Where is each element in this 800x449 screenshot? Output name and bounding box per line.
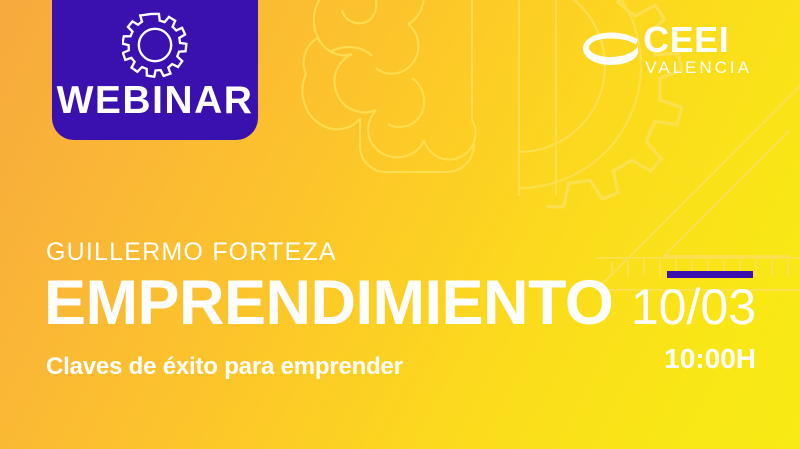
set-square-icon — [596, 64, 800, 290]
webinar-poster: WEBINAR CEEI VALENCIA GUILLERMO FORTEZA … — [0, 0, 800, 449]
event-date: 10/03 — [631, 282, 756, 332]
webinar-badge: WEBINAR — [52, 0, 258, 140]
logo-location: VALENCIA — [645, 59, 752, 78]
ceei-swoosh-icon — [581, 26, 641, 74]
brain-outline-icon — [302, 0, 475, 172]
date-accent-rule — [667, 271, 753, 278]
page-title: EMPRENDIMIENTO — [44, 272, 613, 335]
speaker-name: GUILLERMO FORTEZA — [46, 240, 337, 265]
ceei-logo: CEEI VALENCIA — [581, 22, 752, 84]
page-subtitle: Claves de éxito para emprender — [46, 355, 403, 379]
logo-name: CEEI — [643, 22, 729, 57]
gear-icon — [122, 12, 188, 78]
event-time: 10:00H — [664, 345, 756, 373]
badge-label: WEBINAR — [57, 81, 254, 120]
logo-text-block: CEEI VALENCIA — [643, 22, 752, 78]
